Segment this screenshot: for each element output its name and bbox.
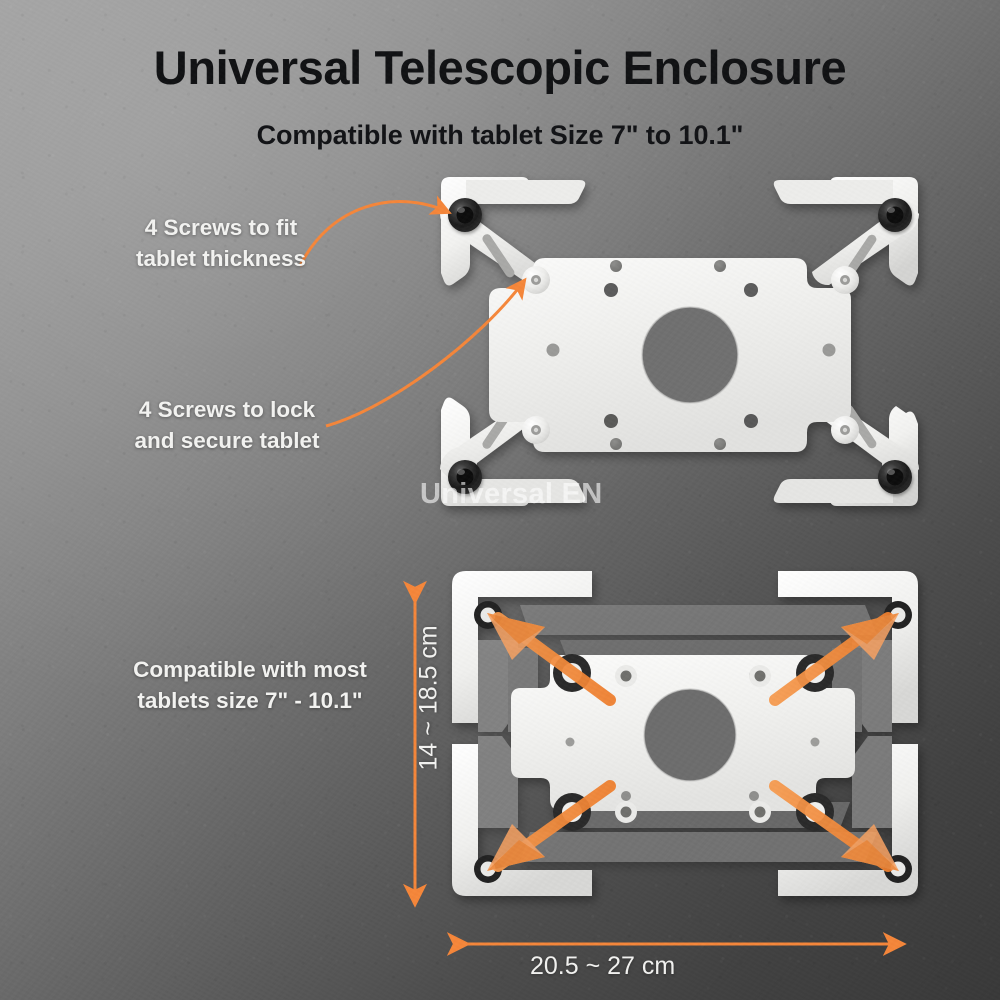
infographic-canvas: Universal Telescopic Enclosure Compatibl…: [0, 0, 1000, 1000]
leader-line-screws-lock: [326, 281, 524, 426]
callout-screws-lock: 4 Screws to lock and secure tablet: [102, 395, 352, 456]
dimension-label-width: 20.5 ~ 27 cm: [530, 952, 675, 981]
page-title: Universal Telescopic Enclosure: [0, 40, 1000, 95]
callout-screws-thickness: 4 Screws to fit tablet thickness: [96, 213, 346, 274]
watermark-text: Universal EN: [420, 478, 603, 511]
callout-compatible-sizes: Compatible with most tablets size 7" - 1…: [104, 655, 396, 716]
dimension-label-height: 14 ~ 18.5 cm: [415, 631, 444, 771]
page-subtitle: Compatible with tablet Size 7" to 10.1": [0, 120, 1000, 151]
